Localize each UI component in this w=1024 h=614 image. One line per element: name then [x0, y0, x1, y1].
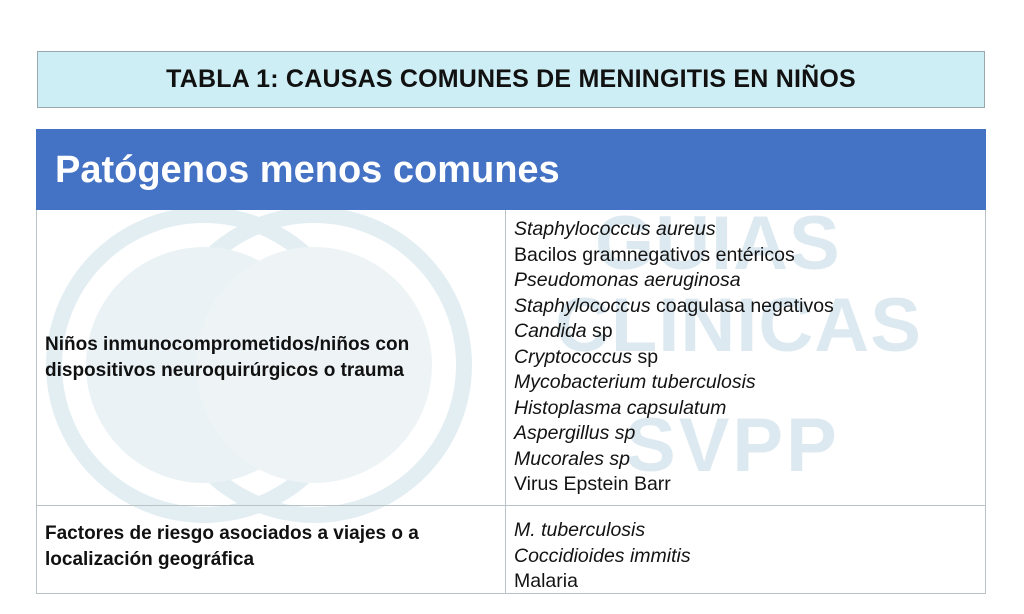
table-body: GUIAS CLINICAS SVPP Niños inmunocomprome… — [36, 210, 986, 594]
pathogen-name-italic: Candida — [514, 320, 587, 342]
row-pathogens-cell: M. tuberculosis Coccidioides immitis Mal… — [506, 506, 985, 593]
row-category-cell: Factores de riesgo asociados a viajes o … — [37, 506, 506, 593]
pathogen-list: Staphylococcus aureus Bacilos gramnegati… — [514, 217, 985, 498]
row-category-label: Niños inmunocomprometidos/niños con disp… — [45, 332, 497, 383]
row-category-cell: Niños inmunocomprometidos/niños con disp… — [37, 210, 506, 505]
row-pathogens-cell: Staphylococcus aureus Bacilos gramnegati… — [506, 210, 985, 505]
section-heading: Patógenos menos comunes — [36, 151, 560, 189]
pathogen-name-italic: Pseudomonas aeruginosa — [514, 269, 741, 291]
pathogen-list: M. tuberculosis Coccidioides immitis Mal… — [514, 518, 985, 594]
list-item: Bacilos gramnegativos entéricos — [514, 243, 985, 269]
pathogen-name-italic: Histoplasma capsulatum — [514, 397, 726, 419]
pathogen-name-italic: Staphylococcus aureus — [514, 218, 716, 240]
list-item: M. tuberculosis — [514, 518, 985, 544]
pathogen-name-italic: Mucorales sp — [514, 448, 630, 470]
pathogen-name-italic: Cryptococcus — [514, 346, 632, 368]
pathogen-name-italic: Staphylococcus — [514, 295, 651, 317]
page-title: TABLA 1: CAUSAS COMUNES DE MENINGITIS EN… — [166, 65, 856, 94]
list-item: Mycobacterium tuberculosis — [514, 370, 985, 396]
list-item: Aspergillus sp — [514, 421, 985, 447]
list-item: Candida sp — [514, 319, 985, 345]
table-row: Niños inmunocomprometidos/niños con disp… — [37, 210, 985, 505]
table-row: Factores de riesgo asociados a viajes o … — [37, 505, 985, 593]
pathogen-name-roman: Bacilos gramnegativos entéricos — [514, 244, 795, 266]
pathogen-name-roman: sp — [632, 346, 658, 368]
list-item: Malaria — [514, 569, 985, 594]
list-item: Pseudomonas aeruginosa — [514, 268, 985, 294]
pathogen-name-roman: sp — [587, 320, 613, 342]
pathogen-name-italic: Aspergillus sp — [514, 422, 635, 444]
pathogens-table: Patógenos menos comunes GUIAS CLINICAS S… — [36, 129, 986, 594]
pathogen-name-italic: M. tuberculosis — [514, 519, 645, 541]
pathogen-name-italic: Mycobacterium tuberculosis — [514, 371, 756, 393]
pathogen-name-roman: coagulasa negativos — [651, 295, 834, 317]
pathogen-name-italic: Coccidioides immitis — [514, 545, 691, 567]
list-item: Cryptococcus sp — [514, 345, 985, 371]
list-item: Mucorales sp — [514, 447, 985, 473]
table-section-banner: Patógenos menos comunes — [36, 129, 986, 210]
list-item: Staphylococcus coagulasa negativos — [514, 294, 985, 320]
list-item: Virus Epstein Barr — [514, 472, 985, 498]
row-category-label: Factores de riesgo asociados a viajes o … — [45, 521, 497, 572]
pathogen-name-roman: Virus Epstein Barr — [514, 473, 671, 495]
list-item: Staphylococcus aureus — [514, 217, 985, 243]
table-title-box: TABLA 1: CAUSAS COMUNES DE MENINGITIS EN… — [37, 51, 985, 108]
list-item: Coccidioides immitis — [514, 544, 985, 570]
pathogen-name-roman: Malaria — [514, 570, 578, 592]
list-item: Histoplasma capsulatum — [514, 396, 985, 422]
